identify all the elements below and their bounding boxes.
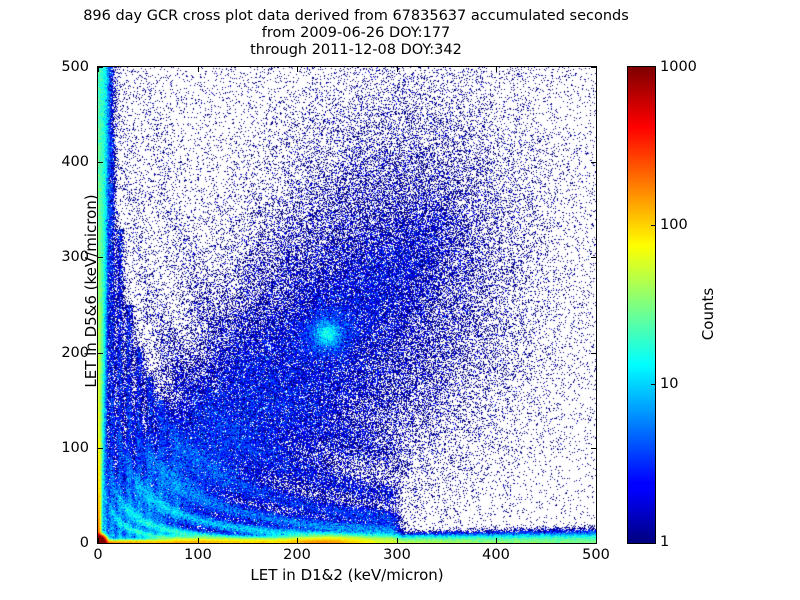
x-tick-label: 300 bbox=[383, 547, 411, 563]
x-axis-title: LET in D1&2 (keV/micron) bbox=[97, 566, 597, 584]
x-tick-mark bbox=[198, 538, 199, 543]
x-tick-label: 0 bbox=[93, 547, 102, 563]
colorbar bbox=[627, 66, 656, 544]
x-tick-mark-top bbox=[297, 67, 298, 72]
x-tick-mark bbox=[496, 538, 497, 543]
figure-title-line-1: 896 day GCR cross plot data derived from… bbox=[0, 8, 712, 25]
y-tick-label: 0 bbox=[80, 535, 89, 551]
figure-title-line-2: from 2009-06-26 DOY:177 bbox=[0, 25, 712, 42]
colorbar-gradient bbox=[628, 67, 655, 543]
x-tick-mark bbox=[596, 538, 597, 543]
x-tick-label: 400 bbox=[482, 547, 510, 563]
figure-title-line-3: through 2011-12-08 DOY:342 bbox=[0, 42, 712, 59]
x-tick-label: 200 bbox=[283, 547, 311, 563]
y-tick-mark-right bbox=[591, 448, 596, 449]
y-tick-mark bbox=[98, 543, 103, 544]
y-tick-mark-right bbox=[591, 543, 596, 544]
y-axis-title: LET in D5&6 (keV/micron) bbox=[82, 81, 100, 501]
plot-area bbox=[97, 66, 597, 544]
y-tick-mark-right bbox=[591, 257, 596, 258]
figure-title: 896 day GCR cross plot data derived from… bbox=[0, 8, 712, 59]
y-tick-label: 500 bbox=[61, 59, 89, 75]
x-tick-mark-top bbox=[596, 67, 597, 72]
colorbar-tick-label: 10 bbox=[660, 376, 678, 392]
y-tick-mark bbox=[98, 67, 103, 68]
x-tick-mark bbox=[297, 538, 298, 543]
heatmap-canvas bbox=[98, 67, 596, 543]
colorbar-tick-label: 100 bbox=[660, 217, 688, 233]
colorbar-tick-mark bbox=[651, 225, 656, 226]
x-tick-label: 500 bbox=[582, 547, 610, 563]
y-tick-mark-right bbox=[591, 353, 596, 354]
colorbar-tick-label: 1 bbox=[660, 534, 669, 550]
x-tick-mark-top bbox=[496, 67, 497, 72]
x-tick-label: 100 bbox=[184, 547, 212, 563]
x-tick-mark bbox=[397, 538, 398, 543]
x-tick-mark-top bbox=[198, 67, 199, 72]
y-tick-mark-right bbox=[591, 67, 596, 68]
colorbar-title: Counts bbox=[699, 229, 717, 399]
x-tick-mark-top bbox=[397, 67, 398, 72]
colorbar-tick-label: 1000 bbox=[660, 59, 697, 75]
y-tick-mark-right bbox=[591, 162, 596, 163]
colorbar-tick-mark bbox=[651, 384, 656, 385]
